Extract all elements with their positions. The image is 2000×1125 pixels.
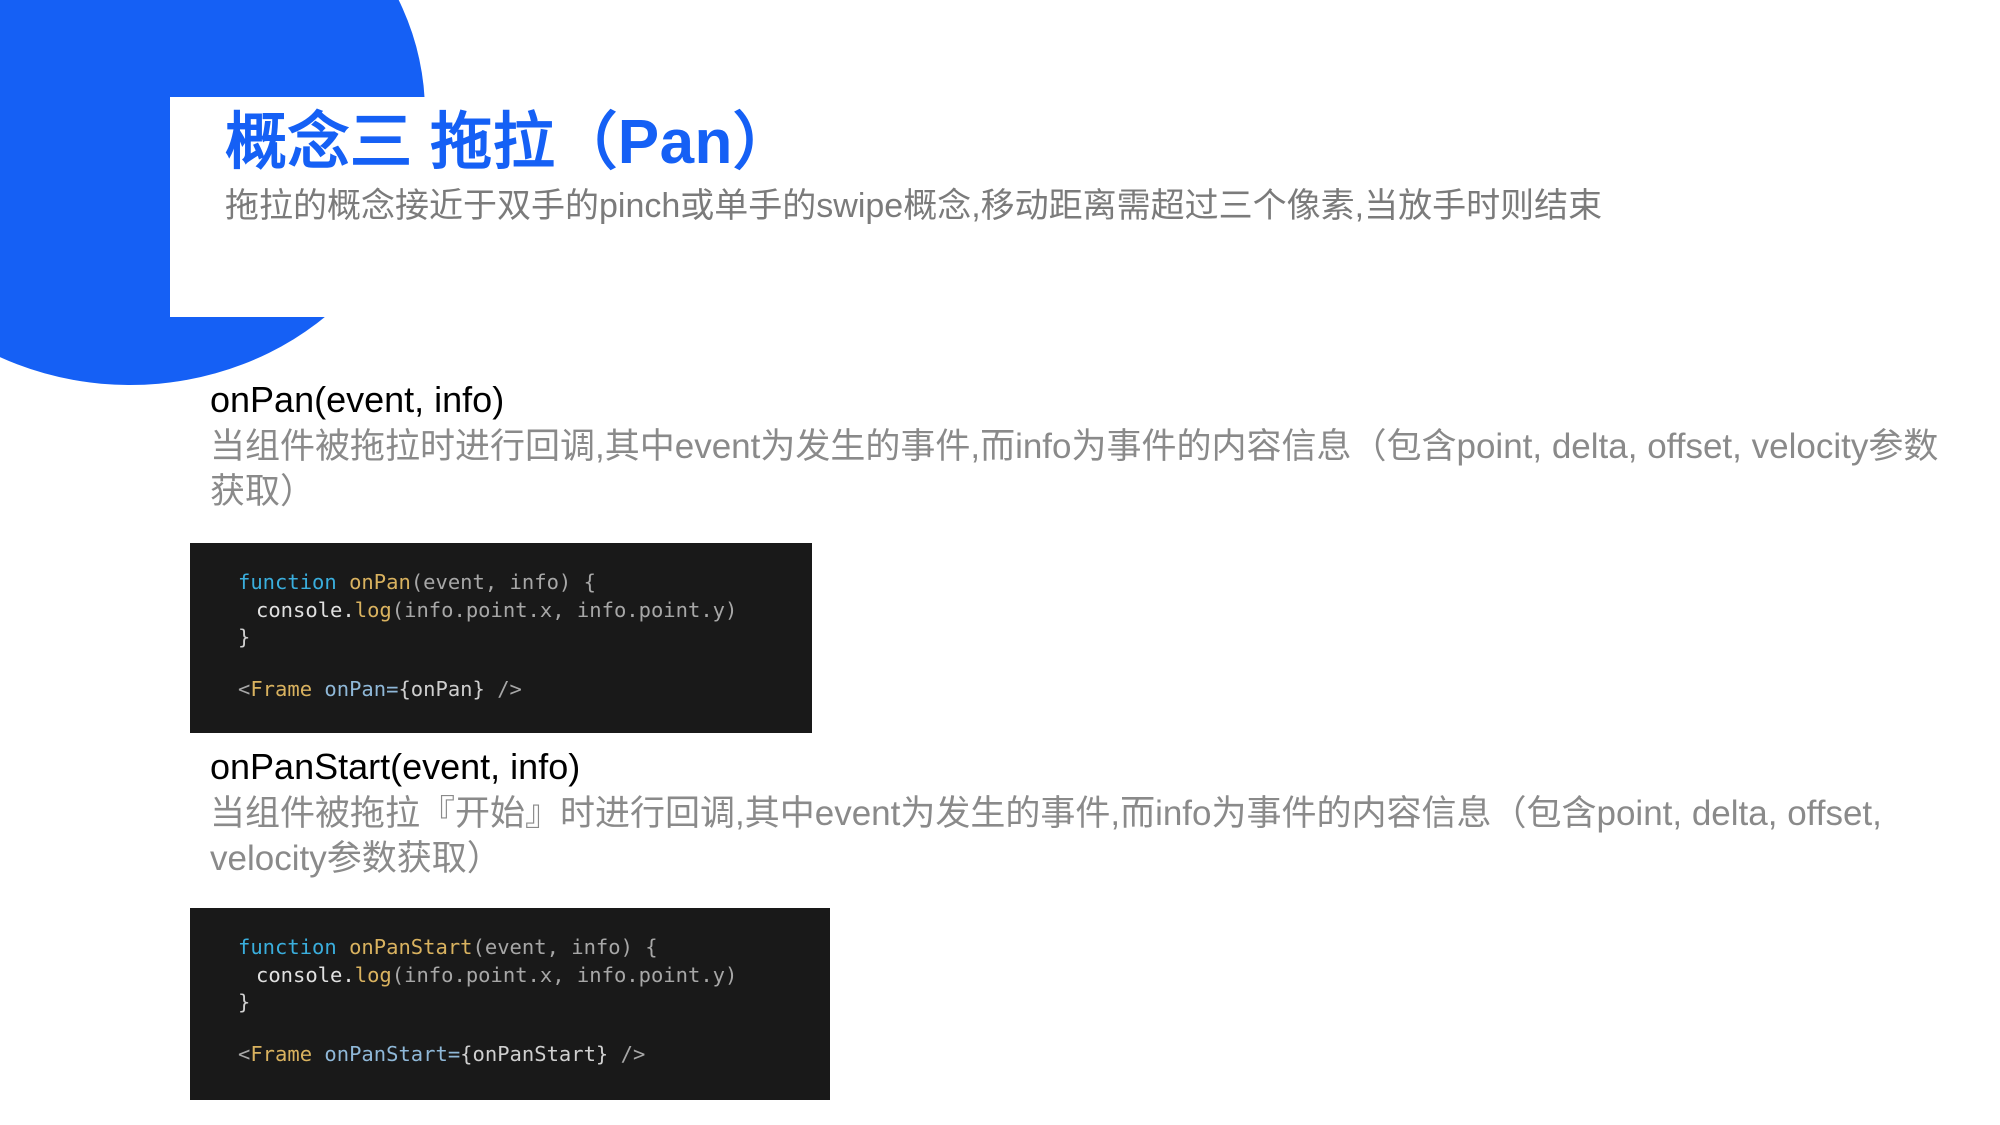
page-subtitle: 拖拉的概念接近于双手的pinch或单手的swipe概念,移动距离需超过三个像素,… <box>225 185 1985 228</box>
code-token-function-name: onPanStart <box>349 935 472 959</box>
code-token-tag-open: < <box>238 1042 250 1066</box>
section-onpanstart: onPanStart(event, info) 当组件被拖拉『开始』时进行回调,… <box>210 745 2000 882</box>
code-token-tag-name: Frame <box>250 677 312 701</box>
code-line: <Frame onPan={onPan} /> <box>190 676 812 704</box>
api-description-onpan: 当组件被拖拉时进行回调,其中event为发生的事件,而info为事件的内容信息（… <box>210 424 1970 515</box>
slide-canvas: 概念三 拖拉（Pan） 拖拉的概念接近于双手的pinch或单手的swipe概念,… <box>0 0 2000 1125</box>
code-token-object: console. <box>256 598 355 622</box>
code-token-space <box>312 1042 324 1066</box>
code-line: } <box>190 989 830 1017</box>
code-token-function-name: onPan <box>349 570 411 594</box>
code-token-space <box>485 677 497 701</box>
code-token-space <box>337 570 349 594</box>
code-line-blank <box>190 1017 830 1041</box>
code-token-close-brace: } <box>238 990 250 1014</box>
code-token-args: (event, info) { <box>411 570 596 594</box>
code-token-space <box>312 677 324 701</box>
page-title: 概念三 拖拉（Pan） <box>225 108 1985 177</box>
code-token-attr: onPanStart= <box>324 1042 460 1066</box>
code-token-tag-close: /> <box>621 1042 646 1066</box>
code-token-keyword: function <box>238 935 337 959</box>
code-line: function onPan(event, info) { <box>190 569 812 597</box>
section-onpan: onPan(event, info) 当组件被拖拉时进行回调,其中event为发… <box>210 378 2000 515</box>
code-line: function onPanStart(event, info) { <box>190 934 830 962</box>
code-block-onpanstart: function onPanStart(event, info) { conso… <box>190 908 830 1100</box>
code-token-method: log <box>355 963 392 987</box>
api-name-onpan: onPan(event, info) <box>210 378 2000 422</box>
code-line: } <box>190 624 812 652</box>
api-description-onpanstart: 当组件被拖拉『开始』时进行回调,其中event为发生的事件,而info为事件的内… <box>210 791 1970 882</box>
code-token-tag-close: /> <box>497 677 522 701</box>
code-token-attr-value: {onPan} <box>398 677 484 701</box>
code-token-call-args: (info.point.x, info.point.y) <box>392 598 738 622</box>
code-token-tag-open: < <box>238 677 250 701</box>
code-token-args: (event, info) { <box>473 935 658 959</box>
code-token-space <box>608 1042 620 1066</box>
code-token-space <box>337 935 349 959</box>
code-token-call-args: (info.point.x, info.point.y) <box>392 963 738 987</box>
code-token-tag-name: Frame <box>250 1042 312 1066</box>
code-line: console.log(info.point.x, info.point.y) <box>190 597 812 625</box>
slide-header: 概念三 拖拉（Pan） 拖拉的概念接近于双手的pinch或单手的swipe概念,… <box>225 108 1985 228</box>
code-block-onpan: function onPan(event, info) { console.lo… <box>190 543 812 733</box>
code-line: console.log(info.point.x, info.point.y) <box>190 962 830 990</box>
api-name-onpanstart: onPanStart(event, info) <box>210 745 2000 789</box>
code-line: <Frame onPanStart={onPanStart} /> <box>190 1041 830 1069</box>
code-token-keyword: function <box>238 570 337 594</box>
code-token-method: log <box>355 598 392 622</box>
code-token-close-brace: } <box>238 625 250 649</box>
code-token-object: console. <box>256 963 355 987</box>
code-line-blank <box>190 652 812 676</box>
code-token-attr-value: {onPanStart} <box>460 1042 608 1066</box>
code-token-attr: onPan= <box>324 677 398 701</box>
